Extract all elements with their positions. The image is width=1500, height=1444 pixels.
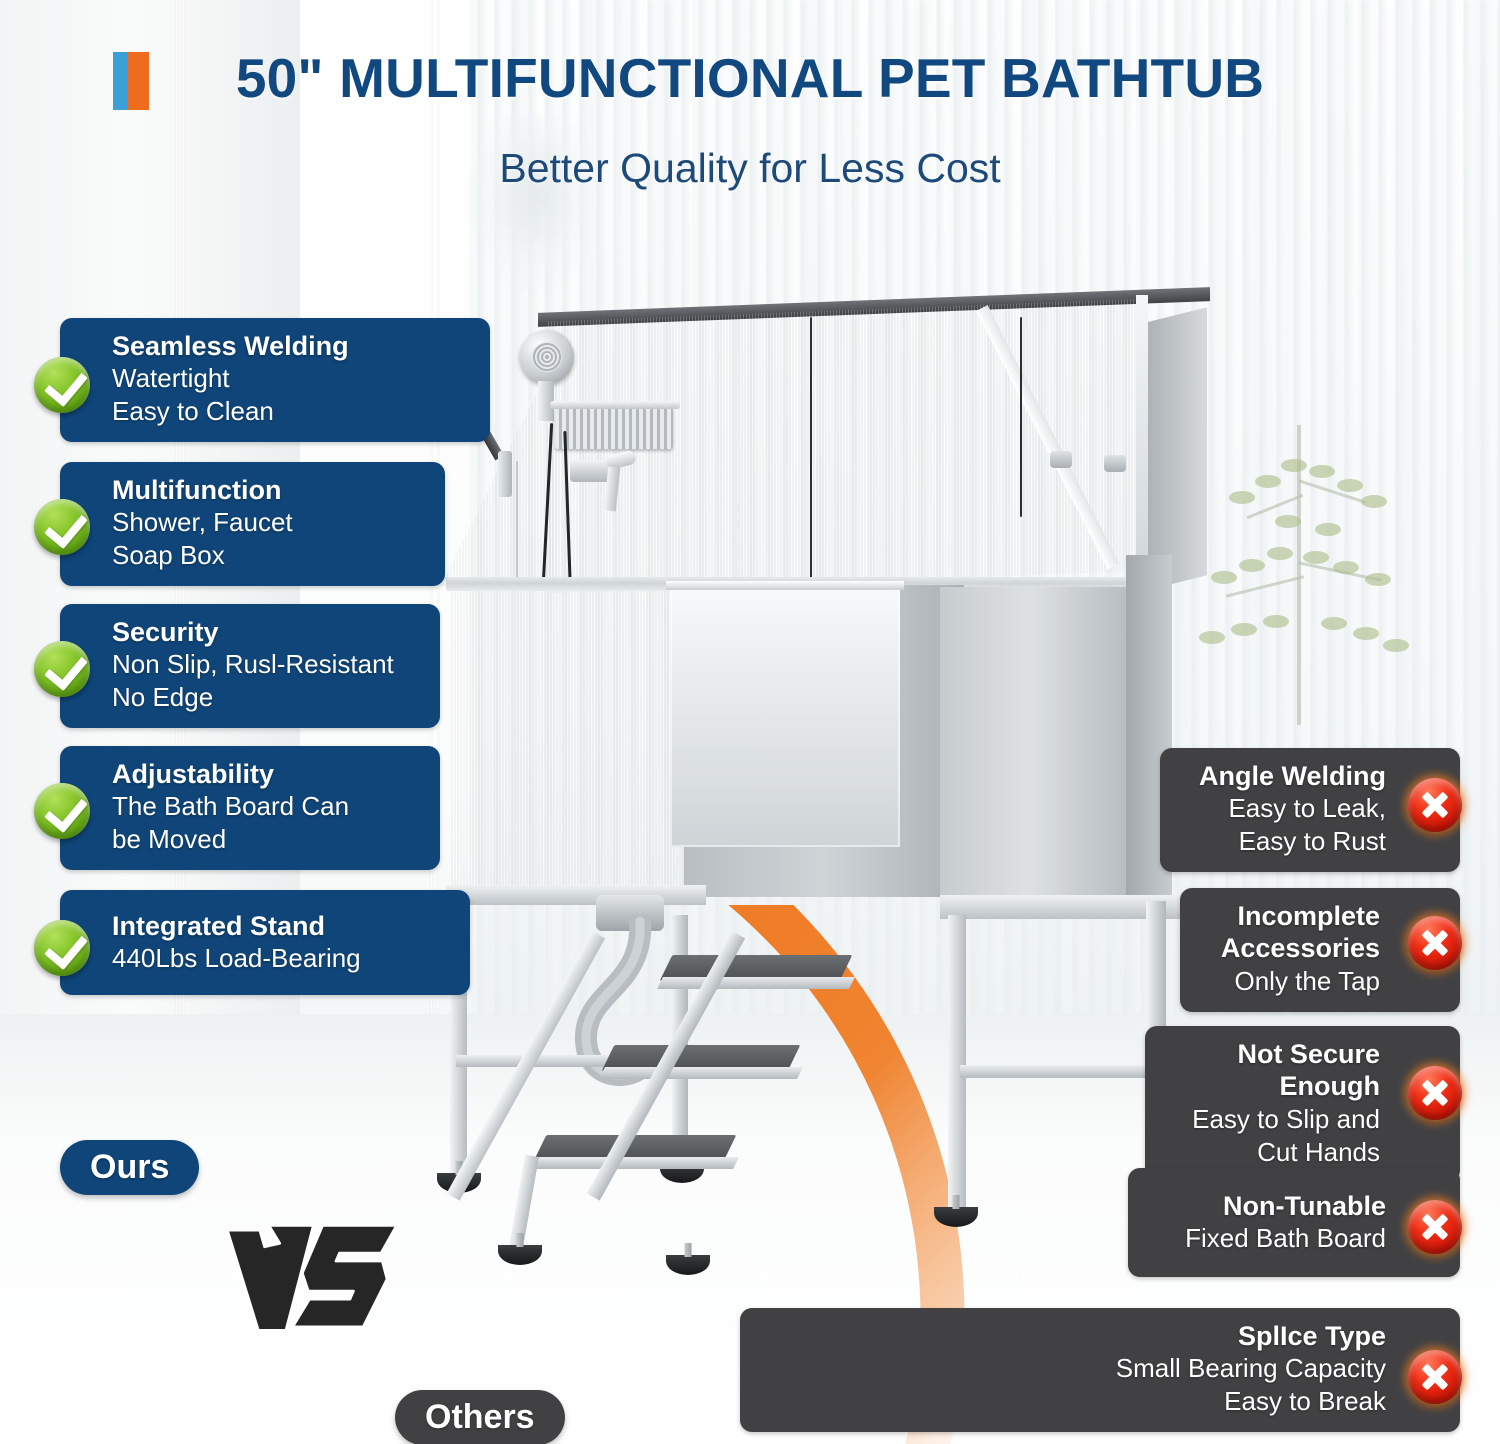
pro-title: Multifunction	[112, 474, 427, 506]
con-title: SplIce Type	[760, 1320, 1386, 1352]
page-title: 50" MULTIFUNCTIONAL PET BATHTUB	[0, 46, 1500, 110]
con-title: Not Secure Enough	[1165, 1038, 1380, 1103]
con-line: Easy to Leak,	[1180, 792, 1386, 825]
infographic-canvas: 50" MULTIFUNCTIONAL PET BATHTUB Better Q…	[0, 0, 1500, 1444]
ours-badge: Ours	[60, 1140, 199, 1195]
con-line: Only the Tap	[1200, 965, 1380, 998]
cross-circle-icon	[1408, 778, 1462, 832]
others-badge: Others	[395, 1390, 565, 1444]
pro-item-adjustability: Adjustability The Bath Board Can be Move…	[60, 746, 440, 870]
pro-title: Integrated Stand	[112, 910, 452, 942]
pro-title: Security	[112, 616, 422, 648]
pro-item-security: Security Non Slip, Rusl-Resistant No Edg…	[60, 604, 440, 728]
pro-line: The Bath Board Can	[112, 790, 422, 823]
con-title-line1: Incomplete Accessories	[1221, 901, 1380, 963]
con-line: Fixed Bath Board	[1148, 1222, 1386, 1255]
vs-logo	[222, 1222, 402, 1332]
check-circle-icon	[34, 920, 90, 976]
check-circle-icon	[34, 357, 90, 413]
bath-board	[670, 585, 900, 847]
pro-item-multifunction: Multifunction Shower, Faucet Soap Box	[60, 462, 445, 586]
cross-circle-icon	[1408, 916, 1462, 970]
cross-circle-icon	[1408, 1066, 1462, 1120]
con-line: Easy to Break	[760, 1385, 1386, 1418]
page-subtitle: Better Quality for Less Cost	[0, 145, 1500, 192]
con-line: Easy to Slip and	[1165, 1103, 1380, 1136]
cross-circle-icon	[1408, 1350, 1462, 1404]
pro-title: Seamless Welding	[112, 330, 472, 362]
pro-line: Non Slip, Rusl-Resistant	[112, 648, 422, 681]
check-circle-icon	[34, 641, 90, 697]
pro-item-integrated-stand: Integrated Stand 440Lbs Load-Bearing	[60, 890, 470, 995]
pro-item-seamless-welding: Seamless Welding Watertight Easy to Clea…	[60, 318, 490, 442]
pro-line: 440Lbs Load-Bearing	[112, 942, 452, 975]
pro-line: No Edge	[112, 681, 422, 714]
pro-line: be Moved	[112, 823, 422, 856]
con-title: Angle Welding	[1180, 760, 1386, 792]
page-title-text: 50" MULTIFUNCTIONAL PET BATHTUB	[0, 46, 1500, 110]
soap-box-icon	[555, 407, 673, 449]
pro-title: Adjustability	[112, 758, 422, 790]
product-image-pet-bathtub	[420, 255, 1210, 1300]
pro-line: Watertight	[112, 362, 472, 395]
pro-line: Easy to Clean	[112, 395, 472, 428]
check-circle-icon	[34, 499, 90, 555]
con-line: Easy to Rust	[1180, 825, 1386, 858]
decorative-plant-right-icon	[1185, 395, 1485, 725]
con-title: Non-Tunable	[1148, 1190, 1386, 1222]
check-circle-icon	[34, 783, 90, 839]
con-line: Small Bearing Capacity	[760, 1352, 1386, 1385]
pro-line: Soap Box	[112, 539, 427, 572]
pro-line: Shower, Faucet	[112, 506, 427, 539]
cross-circle-icon	[1408, 1200, 1462, 1254]
con-title: Incomplete Accessories	[1200, 900, 1380, 965]
con-item-splice-type: SplIce Type Small Bearing Capacity Easy …	[740, 1308, 1460, 1432]
con-line: Cut Hands	[1165, 1136, 1380, 1169]
